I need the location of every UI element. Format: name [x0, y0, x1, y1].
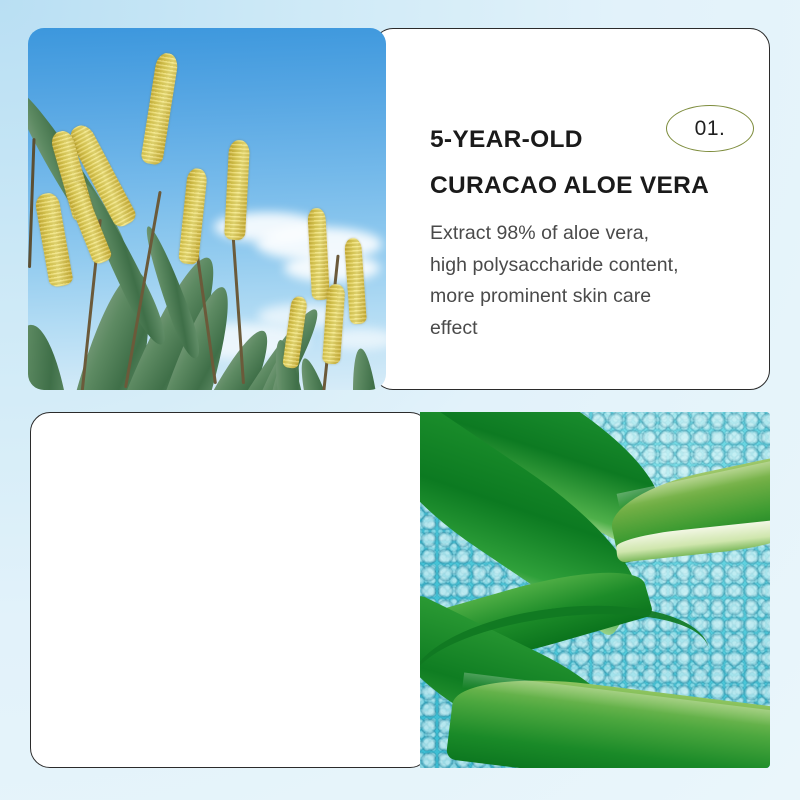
card-2-image-aloe-gel	[420, 412, 770, 768]
card-1-image-aloe-field	[28, 28, 386, 390]
card-1-badge-label: 01.	[695, 118, 726, 139]
card-1-number-badge: 01.	[666, 105, 754, 152]
card-1-body: Extract 98% of aloe vera, high polysacch…	[430, 218, 780, 344]
feature-card-2: 6 HOURS TIMELY EXTRACTION Retain the ori…	[30, 412, 770, 768]
card-1-text: 5-YEAR-OLD CURACAO ALOE VERA Extract 98%…	[430, 128, 780, 344]
card-1-body-line: Extract 98% of aloe vera,	[430, 218, 780, 250]
card-1-body-line: more prominent skin care	[430, 281, 780, 313]
card-1-heading-line-2: CURACAO ALOE VERA	[430, 174, 780, 199]
card-2-text-panel	[30, 412, 430, 768]
infographic-board: 5-YEAR-OLD CURACAO ALOE VERA Extract 98%…	[0, 0, 800, 800]
card-1-body-line: high polysaccharide content,	[430, 250, 780, 282]
feature-card-1: 5-YEAR-OLD CURACAO ALOE VERA Extract 98%…	[28, 28, 770, 390]
card-1-body-line: effect	[430, 313, 780, 345]
cloud-icon	[284, 254, 380, 282]
